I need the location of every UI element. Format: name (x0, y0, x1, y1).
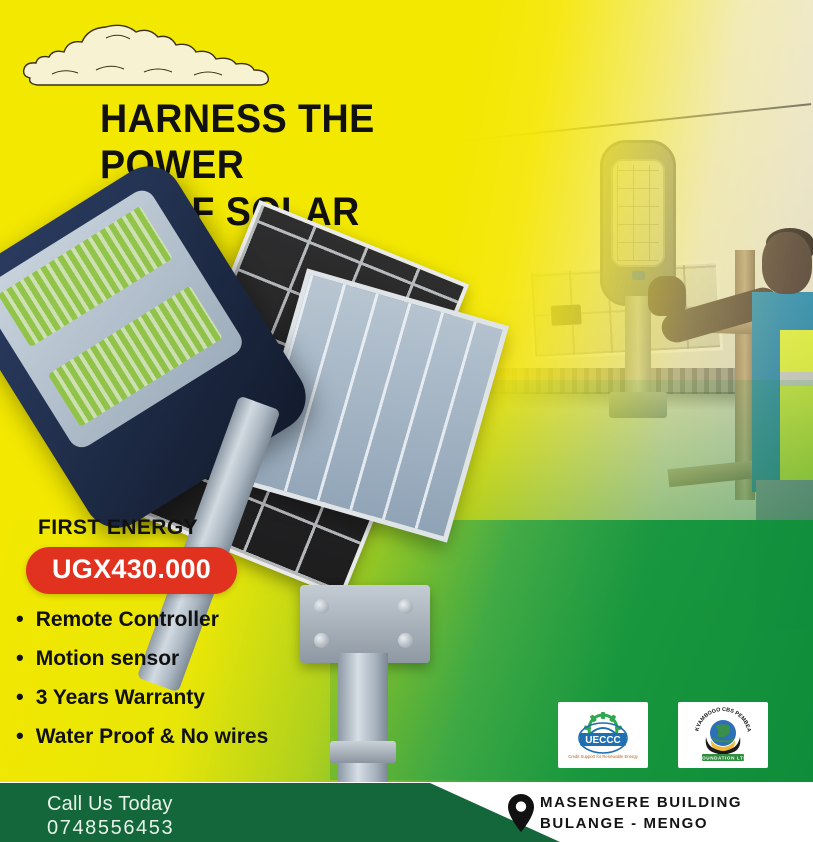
partner-logos: UECCC Credit Support for Renewable Energ… (558, 702, 768, 768)
call-us-block: Call Us Today 0748556453 (47, 792, 174, 841)
address-line-1: MASENGERE BUILDING (540, 793, 742, 814)
foundation-logo: KYAMBOGO CBS PEMBEA FOUNDATION LTD (678, 702, 768, 768)
feature-label: Water Proof & No wires (36, 725, 269, 749)
product-mounting-bracket (300, 585, 430, 663)
price-badge: UGX430.000 (26, 547, 237, 594)
svg-text:Credit Support for Renewable E: Credit Support for Renewable Energy (568, 754, 639, 759)
product-lamp-lens (0, 185, 247, 452)
list-item: • Water Proof & No wires (16, 725, 268, 749)
address-block: MASENGERE BUILDING BULANGE - MENGO (540, 793, 742, 834)
svg-text:FOUNDATION LTD: FOUNDATION LTD (699, 755, 748, 760)
feature-list: • Remote Controller • Motion sensor • 3 … (16, 608, 268, 764)
list-item: • 3 Years Warranty (16, 686, 268, 710)
list-item: • Remote Controller (16, 608, 268, 632)
feature-label: 3 Years Warranty (36, 686, 205, 710)
product-pole-collar (330, 741, 396, 763)
bullet-icon: • (16, 608, 24, 630)
cloud-icon (18, 18, 280, 90)
bullet-icon: • (16, 686, 24, 708)
bullet-icon: • (16, 725, 24, 747)
address-line-2: BULANGE - MENGO (540, 814, 742, 835)
uecc-logo: UECCC Credit Support for Renewable Energ… (558, 702, 648, 768)
bullet-icon: • (16, 647, 24, 669)
list-item: • Motion sensor (16, 647, 268, 671)
solar-advertisement-poster: HARNESS THE POWER OF SOLAR FIRST ENERGY … (0, 0, 813, 842)
brand-name: FIRST ENERGY (38, 516, 198, 540)
call-us-label: Call Us Today (47, 792, 174, 816)
phone-number[interactable]: 0748556453 (47, 816, 174, 840)
svg-text:UECCC: UECCC (585, 735, 621, 746)
feature-label: Remote Controller (36, 608, 219, 632)
feature-label: Motion sensor (36, 647, 180, 671)
map-pin-icon (508, 794, 534, 832)
